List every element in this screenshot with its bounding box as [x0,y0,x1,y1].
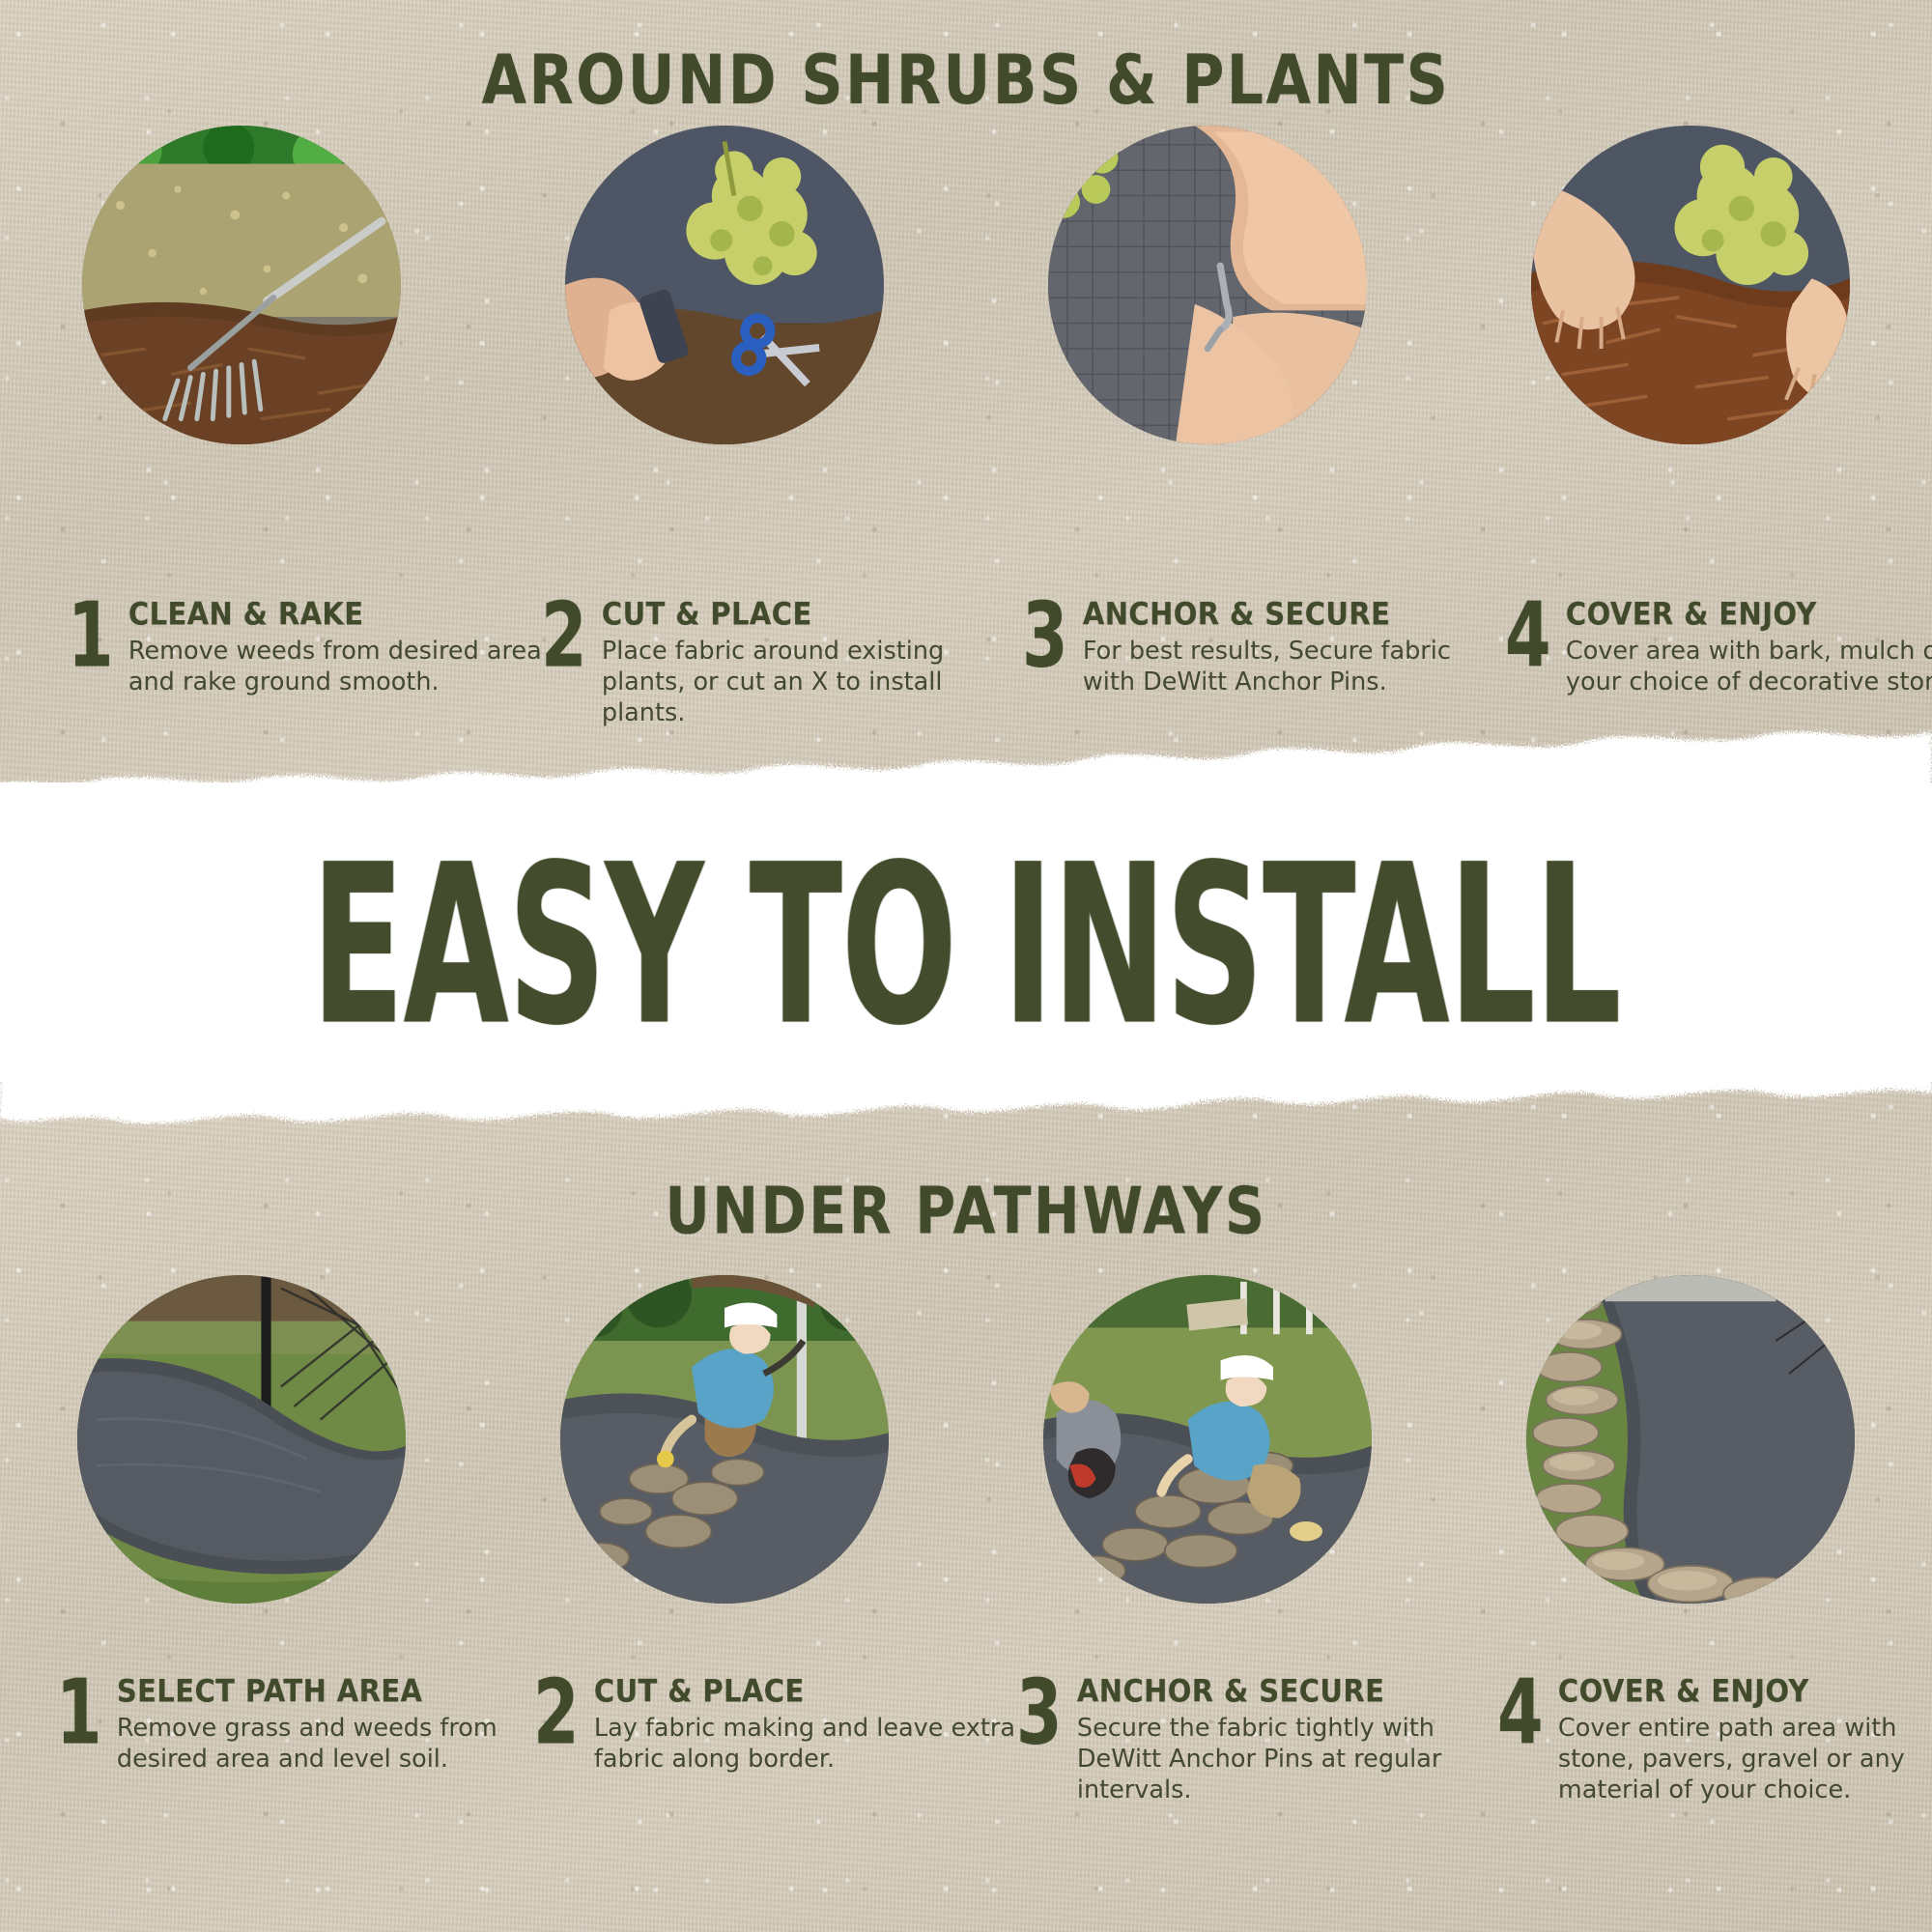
step-number: 2 [533,1676,580,1797]
step-number: 1 [56,1676,102,1797]
cutting-fabric-illustration [565,126,884,444]
steps-row-shrubs: 1 CLEAN & RAKE Remove weeds from desired… [0,126,1932,444]
step-photo-cover-and-enjoy-path [1526,1275,1855,1604]
step-card-shrubs-1: 1 CLEAN & RAKE Remove weeds from desired… [0,126,483,444]
banner-easy-to-install: EASY TO INSTALL [0,826,1932,1067]
step-caption-shrubs-2: 2 CUT & PLACE Place fabric around existi… [483,599,1024,728]
step-body: Remove grass and weeds from desired area… [117,1713,539,1775]
step-body: Cover entire path area with stone, paver… [1558,1713,1932,1805]
step-caption-pathways-4: 4 COVER & ENJOY Cover entire path area w… [1449,1676,1932,1805]
step-number: 4 [1505,599,1551,720]
step-number: 4 [1497,1676,1544,1834]
step-caption-pathways-1: 1 SELECT PATH AREA Remove grass and weed… [0,1676,539,1775]
step-card-pathways-3: 3 ANCHOR & SECURE Secure the fabric tigh… [966,1275,1449,1604]
step-caption-shrubs-3: 3 ANCHOR & SECURE For best results, Secu… [966,599,1505,697]
step-number: 3 [1022,599,1068,720]
step-title: CUT & PLACE [602,599,1024,630]
step-card-pathways-1: 1 SELECT PATH AREA Remove grass and weed… [0,1275,483,1604]
rake-on-mulch-illustration [82,126,401,444]
step-body: Place fabric around existing plants, or … [602,636,1024,728]
step-title: CUT & PLACE [594,1676,1016,1707]
fabric-over-lawn-illustration [77,1275,406,1604]
two-workers-placing-stones-illustration [1043,1275,1372,1604]
step-caption-pathways-3: 3 ANCHOR & SECURE Secure the fabric tigh… [966,1676,1499,1805]
step-title: COVER & ENJOY [1566,599,1932,630]
step-body: Secure the fabric tightly with DeWitt An… [1077,1713,1499,1805]
step-body: Cover area with bark, mulch or your choi… [1566,636,1932,697]
step-title: ANCHOR & SECURE [1083,599,1505,630]
steps-row-pathways: 1 SELECT PATH AREA Remove grass and weed… [0,1275,1932,1604]
step-caption-pathways-2: 2 CUT & PLACE Lay fabric making and leav… [483,1676,1016,1775]
step-photo-anchor-and-secure [1048,126,1367,444]
step-card-shrubs-4: 4 COVER & ENJOY Cover area with bark, mu… [1449,126,1932,444]
step-caption-shrubs-1: 1 CLEAN & RAKE Remove weeds from desired… [0,599,551,697]
banner-headline: EASY TO INSTALL [311,845,1620,1048]
step-photo-cut-and-place-path [560,1275,889,1604]
step-title: ANCHOR & SECURE [1077,1676,1499,1707]
step-card-pathways-2: 2 CUT & PLACE Lay fabric making and leav… [483,1275,966,1604]
mulch-spreading-illustration [1531,126,1850,444]
step-body: Lay fabric making and leave extra fabric… [594,1713,1016,1775]
step-photo-select-path-area [77,1275,406,1604]
step-card-shrubs-2: 2 CUT & PLACE Place fabric around existi… [483,126,966,444]
section-heading-around-shrubs: AROUND SHRUBS & PLANTS [0,41,1932,121]
step-number: 2 [541,599,587,757]
worker-laying-stone-border-illustration [560,1275,889,1604]
step-photo-cover-and-enjoy [1531,126,1850,444]
step-photo-anchor-and-secure-path [1043,1275,1372,1604]
step-title: COVER & ENJOY [1558,1676,1932,1707]
step-number: 3 [1016,1676,1063,1834]
step-card-shrubs-3: 3 ANCHOR & SECURE For best results, Secu… [966,126,1449,444]
step-title: SELECT PATH AREA [117,1676,539,1707]
step-number: 1 [68,599,114,720]
section-heading-under-pathways: UNDER PATHWAYS [0,1174,1932,1249]
step-card-pathways-4: 4 COVER & ENJOY Cover entire path area w… [1449,1275,1932,1604]
step-body: For best results, Secure fabric with DeW… [1083,636,1505,697]
anchor-pin-illustration [1048,126,1367,444]
infographic-canvas: AROUND SHRUBS & PLANTS [0,0,1932,1932]
step-photo-cut-and-place [565,126,884,444]
step-photo-clean-and-rake [82,126,401,444]
finished-stone-bordered-path-illustration [1526,1275,1855,1604]
step-caption-shrubs-4: 4 COVER & ENJOY Cover area with bark, mu… [1449,599,1932,697]
